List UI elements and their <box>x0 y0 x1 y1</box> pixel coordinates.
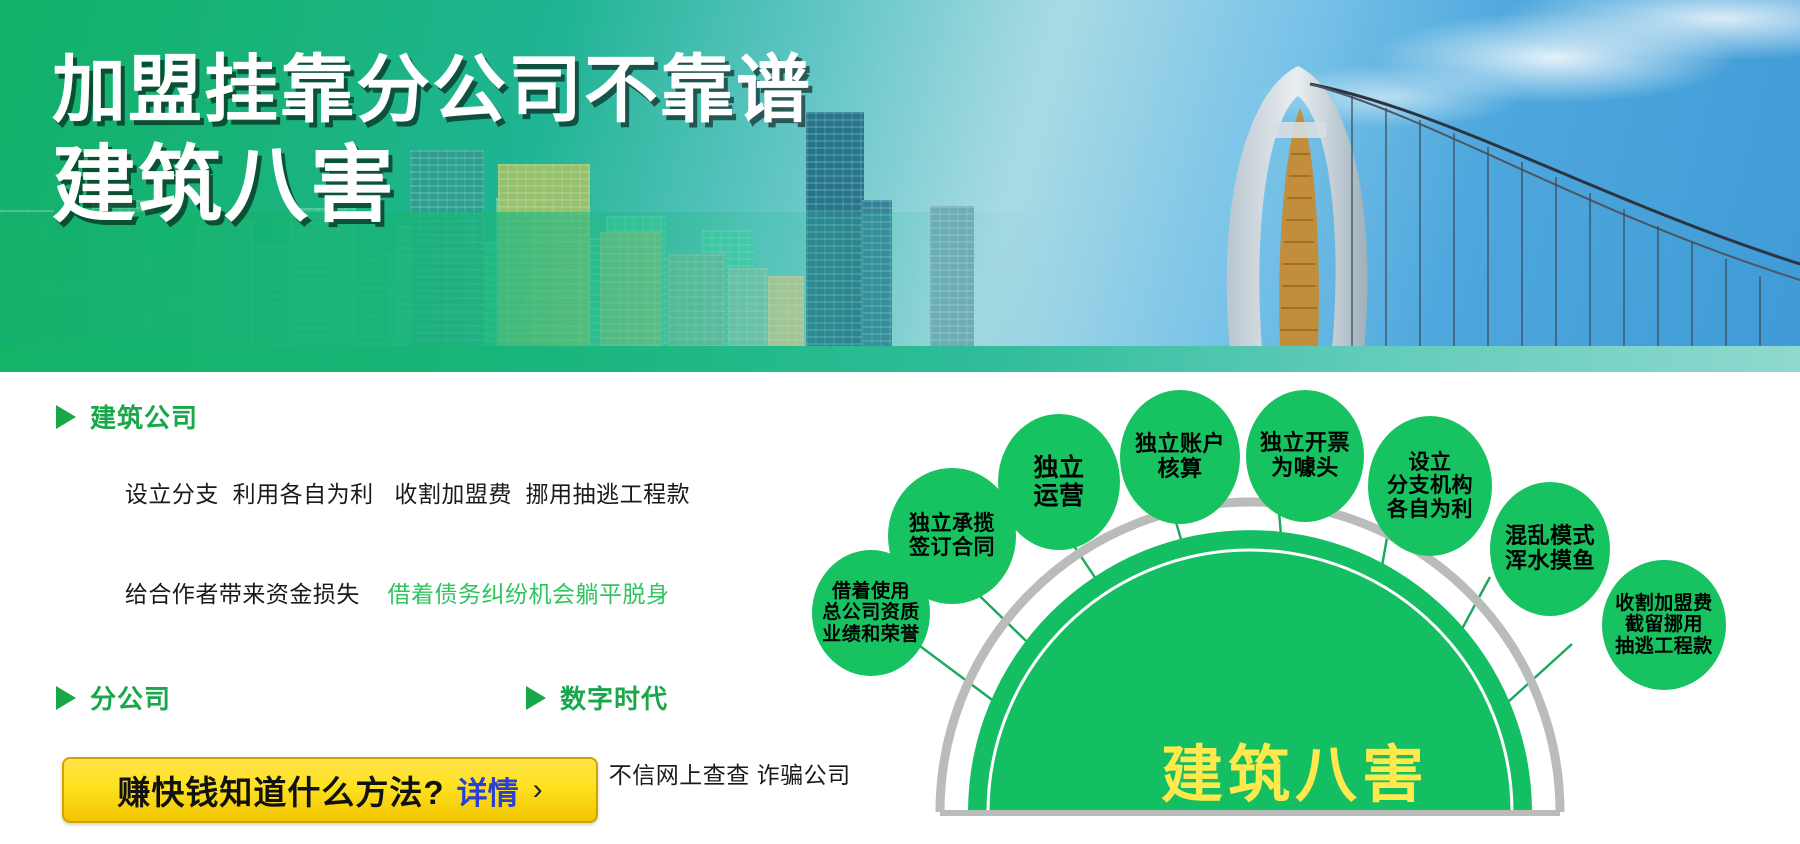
line-highlight: 借着债务纠纷机会躺平脱身 <box>387 581 669 607</box>
hero-bottom-band <box>0 346 1800 372</box>
section-title: 数字时代 <box>560 679 668 716</box>
section-body-line: 给合作者带来资金损失 借着债务纠纷机会躺平脱身 <box>56 545 796 645</box>
bubble-label: 独立账户 核算 <box>1135 432 1225 481</box>
chevron-right-icon: › <box>533 773 543 807</box>
bubble-label: 独立 运营 <box>1033 454 1084 510</box>
bubble-label: 设立 分支机构 各自为利 <box>1387 451 1473 522</box>
bubble-6[interactable]: 设立 分支机构 各自为利 <box>1368 416 1492 556</box>
bubble-2[interactable]: 独立承揽 签订合同 <box>888 468 1016 604</box>
content-area: 建筑公司 设立分支 利用各自为利 收割加盟费 挪用抽逃工程款 给合作者带来资金损… <box>0 372 1800 844</box>
promo-banner-page: 加盟挂靠分公司不靠谱 建筑八害 建筑公司 设立分支 利用各自为利 收割加盟费 挪… <box>0 0 1800 844</box>
bubble-3[interactable]: 独立 运营 <box>998 414 1120 550</box>
section-title: 分公司 <box>90 679 171 716</box>
bubble-8[interactable]: 收割加盟费 截留挪用 抽逃工程款 <box>1602 560 1726 690</box>
hero-title: 加盟挂靠分公司不靠谱 建筑八害 <box>52 52 812 229</box>
bubble-7[interactable]: 混乱模式 浑水摸鱼 <box>1490 482 1610 616</box>
line-text: 设立分支 利用各自为利 收割加盟费 挪用抽逃工程款 <box>125 481 690 507</box>
cta-detail-link[interactable]: 详情 <box>457 768 519 813</box>
triangle-bullet-icon <box>56 405 76 429</box>
bubble-5[interactable]: 独立开票 为噱头 <box>1246 390 1364 522</box>
line-text: 给合作者带来资金损失 <box>125 581 388 607</box>
hero-title-line1: 加盟挂靠分公司不靠谱 <box>52 52 812 127</box>
bubble-label: 独立承揽 签订合同 <box>909 512 995 559</box>
bubble-4[interactable]: 独立账户 核算 <box>1120 390 1240 524</box>
dome-center-label: 建筑八害 <box>790 724 1800 814</box>
section-body-line: 设立分支 利用各自为利 收割加盟费 挪用抽逃工程款 <box>56 445 796 545</box>
bubble-label: 混乱模式 浑水摸鱼 <box>1505 524 1595 573</box>
section-header: 数字时代 <box>526 679 796 716</box>
hero-title-line2: 建筑八害 <box>52 143 812 229</box>
triangle-bullet-icon <box>526 686 546 710</box>
cta-button[interactable]: 赚快钱知道什么方法? 详情 › <box>62 757 598 823</box>
triangle-bullet-icon <box>56 686 76 710</box>
bubble-diagram: 建筑八害 借着使用 总公司资质 业绩和荣誉 独立承揽 签订合同 独立 运营 独立… <box>790 372 1800 844</box>
section-header: 建筑公司 <box>56 398 796 435</box>
cta-main-label: 赚快钱知道什么方法? <box>117 766 444 814</box>
section-title: 建筑公司 <box>90 398 198 435</box>
section-header: 分公司 <box>56 679 526 716</box>
section-body-line: 成百上千债务 纠纷案件 <box>526 826 796 844</box>
section-construction-company: 建筑公司 设立分支 利用各自为利 收割加盟费 挪用抽逃工程款 给合作者带来资金损… <box>56 398 796 645</box>
bubble-label: 借着使用 总公司资质 业绩和荣誉 <box>822 581 920 645</box>
bubble-label: 独立开票 为噱头 <box>1260 431 1350 480</box>
bubble-label: 收割加盟费 截留挪用 抽逃工程款 <box>1615 593 1713 657</box>
hero-banner: 加盟挂靠分公司不靠谱 建筑八害 <box>0 0 1800 372</box>
